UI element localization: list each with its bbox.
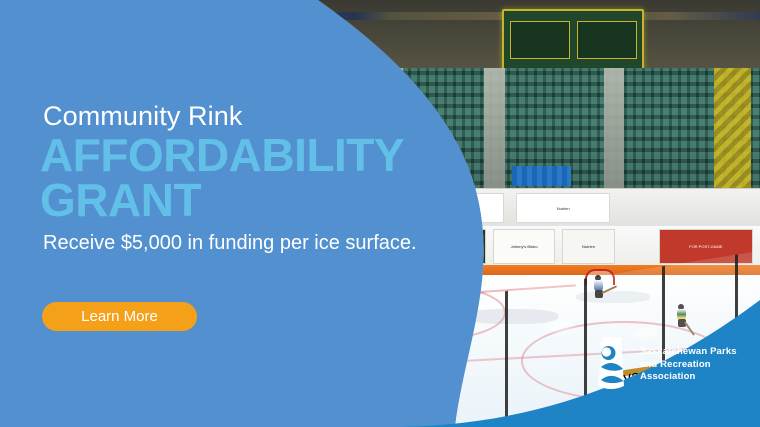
promo-banner: CIM COMMERCIAL INDUSTRIAL Nutrien Herita… — [0, 0, 760, 427]
eyebrow-text: Community Rink — [43, 101, 242, 132]
board-ad-lower-5: Nutrien — [562, 229, 615, 263]
headline-line-2: GRANT — [40, 178, 404, 223]
logo-text-line-1: Saskatchewan Parks — [640, 346, 737, 358]
spra-figure-mark-icon — [592, 336, 630, 394]
logo-wordmark: Saskatchewan Parks and Recreation Associ… — [640, 346, 737, 383]
logo-text-line-2: and Recreation — [640, 359, 737, 371]
player-stick — [432, 324, 445, 336]
learn-more-button[interactable]: Learn More — [42, 302, 197, 331]
page-title: AFFORDABILITY GRANT — [40, 133, 404, 223]
board-ad-upper-2: Nutrien — [516, 193, 610, 223]
board-ad-lower-3: Kimberly Motors — [429, 229, 486, 263]
glass-glare — [547, 319, 573, 333]
yellow-stairs — [714, 68, 751, 196]
aisle-3 — [604, 68, 625, 196]
glass-post-2 — [584, 278, 587, 407]
seating-section-blue — [512, 166, 572, 186]
banner-content: Community Rink AFFORDABILITY GRANT Recei… — [0, 0, 430, 427]
scoreboard — [502, 9, 644, 73]
board-ad-lower-4: Johnny's Bistro — [493, 229, 555, 263]
subtitle-text: Receive $5,000 in funding per ice surfac… — [43, 232, 417, 255]
spra-logo-lockup[interactable]: Saskatchewan Parks and Recreation Associ… — [592, 336, 737, 394]
aisle-2 — [484, 68, 505, 196]
logo-text-line-3: Association — [640, 371, 737, 383]
glass-post-1 — [505, 291, 508, 420]
